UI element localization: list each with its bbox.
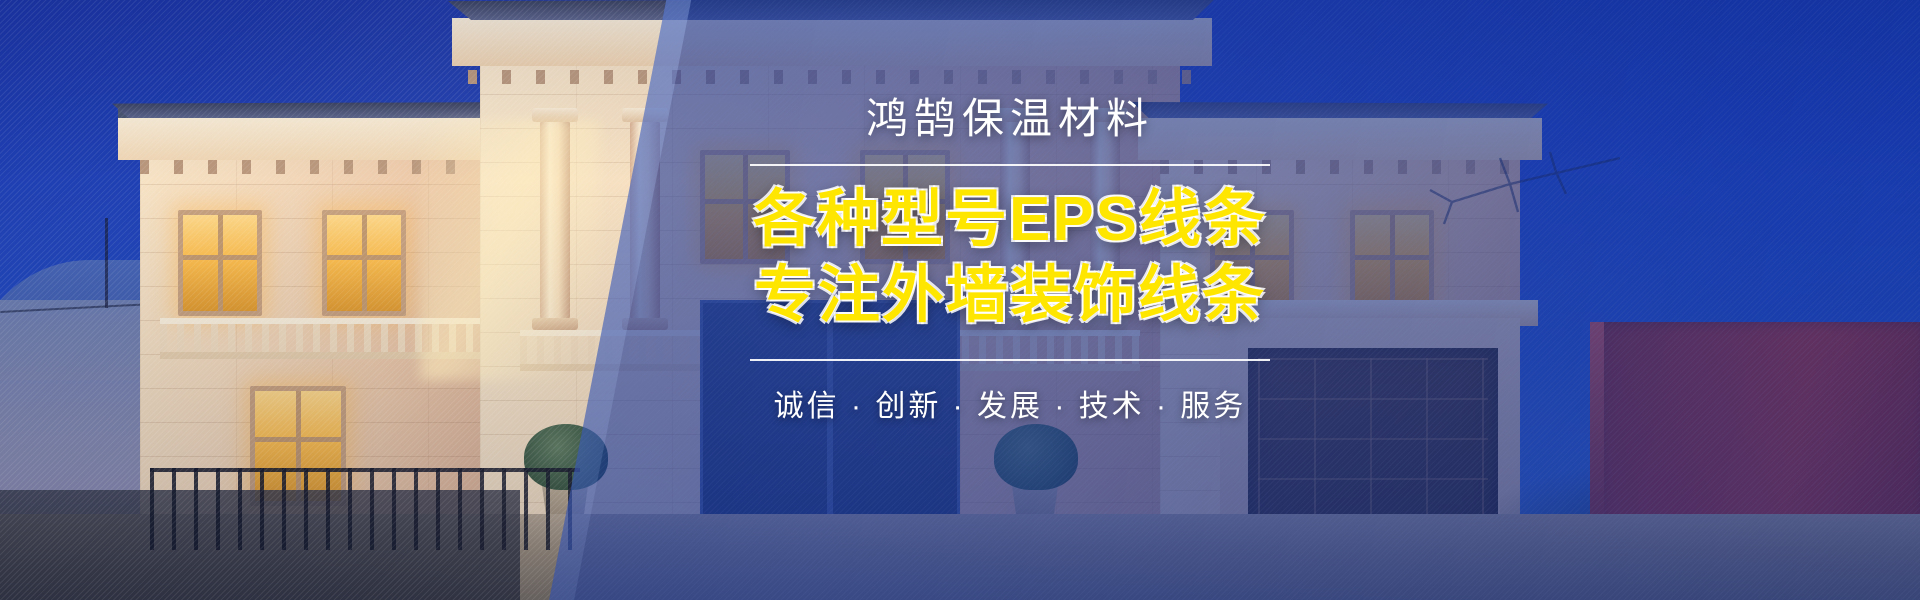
headline-line-1: 各种型号EPS线条 (700, 182, 1320, 258)
banner-text-block: 鸿鹄保温材料 各种型号EPS线条 专注外墙装饰线条 诚信 · 创新 · 发展 ·… (700, 96, 1320, 425)
divider-top (750, 164, 1270, 166)
tagline: 诚信 · 创新 · 发展 · 技术 · 服务 (700, 381, 1320, 425)
divider-bottom (750, 359, 1270, 361)
light-shaft (420, 120, 600, 380)
brand-name: 鸿鹄保温材料 (700, 96, 1320, 142)
promo-banner: 鸿鹄保温材料 各种型号EPS线条 专注外墙装饰线条 诚信 · 创新 · 发展 ·… (0, 0, 1920, 600)
headline-line-2: 专注外墙装饰线条 (700, 258, 1320, 334)
